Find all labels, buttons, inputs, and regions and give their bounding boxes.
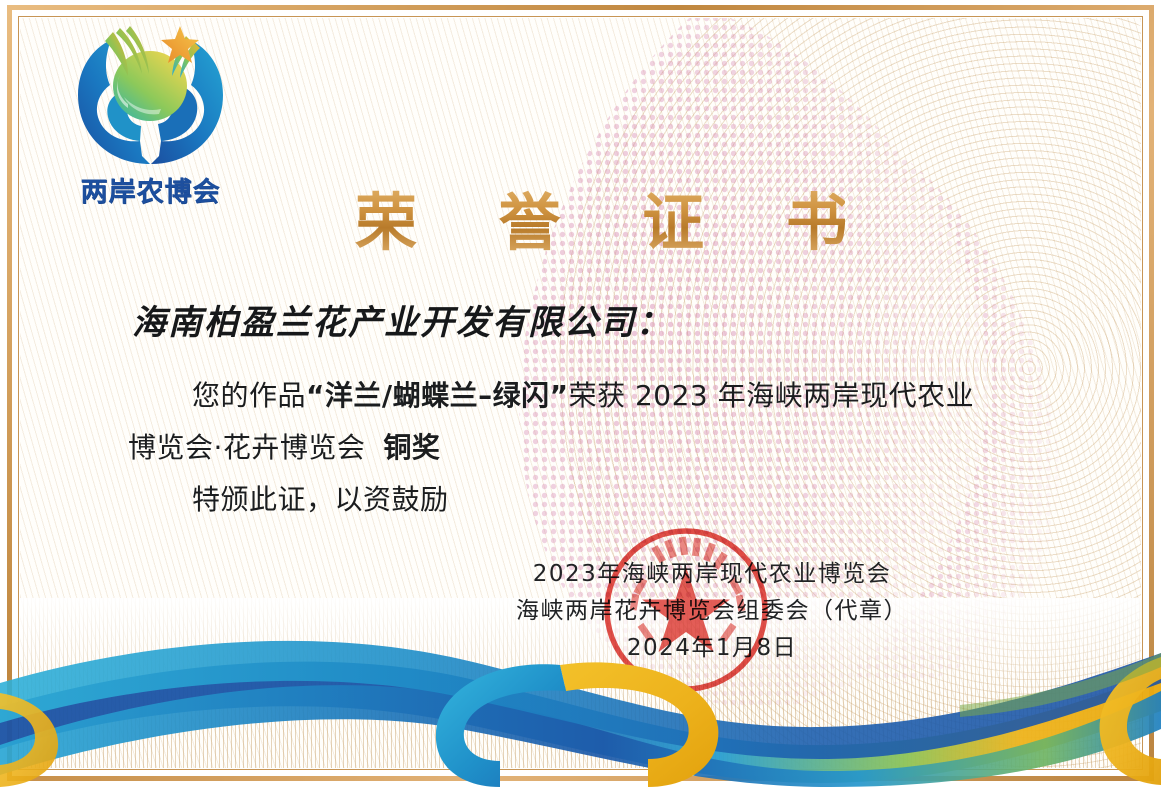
logo-wordmark: 两岸农博会 [58,170,243,209]
work-name: “洋兰/蝴蝶兰–绿闪” [306,379,569,412]
body-line-2-prefix: 博览会·花卉博览会 [128,431,365,464]
organization-logo: 两岸农博会 [58,22,243,207]
body-line-1-prefix: 您的作品 [192,379,306,412]
body-line-1-suffix: 荣获 2023 年海峡两岸现代农业 [569,379,975,412]
body-line-3: 特颁此证，以资鼓励 [128,474,1068,526]
certificate-page: 两岸农博会 荣 誉 证 书 海南柏盈兰花产业开发有限公司： 您的作品“洋兰/蝴蝶… [0,0,1161,787]
certificate-title: 荣 誉 证 书 [325,172,845,262]
body-line-1: 您的作品“洋兰/蝴蝶兰–绿闪”荣获 2023 年海峡两岸现代农业 [128,370,1068,422]
award-level: 铜奖 [365,431,440,464]
decorative-wave-ribbons [0,587,1161,787]
recipient-name: 海南柏盈兰花产业开发有限公司： [132,295,672,344]
certificate-body: 您的作品“洋兰/蝴蝶兰–绿闪”荣获 2023 年海峡两岸现代农业 博览会·花卉博… [128,370,1068,526]
body-line-2: 博览会·花卉博览会铜奖 [128,422,1068,474]
hands-globe-wheat-star-icon [58,22,243,172]
